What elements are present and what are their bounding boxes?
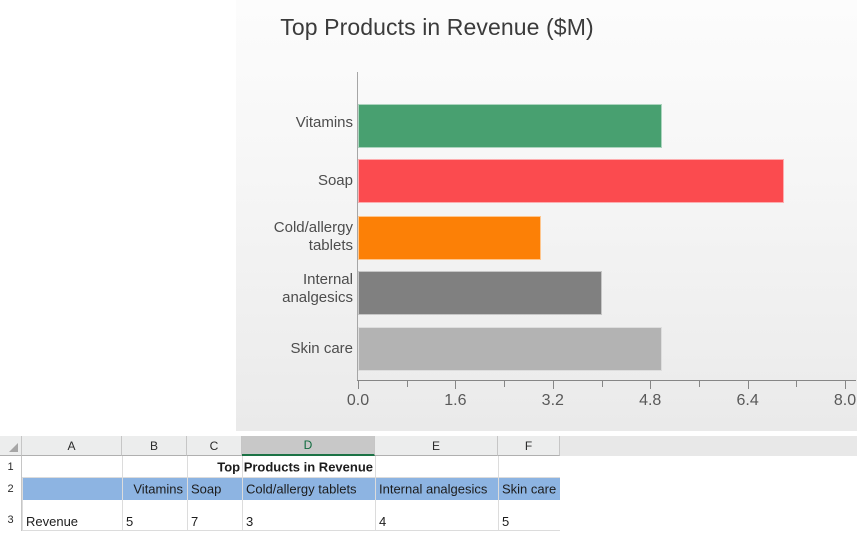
axis-tick-label: 0.0 [328, 392, 388, 410]
axis-tick-label: 4.8 [620, 392, 680, 410]
cell-divider [122, 500, 123, 531]
cell-divider [122, 478, 123, 500]
cell-divider [375, 500, 376, 531]
cell-B2[interactable]: Vitamins [122, 478, 187, 500]
cell-A2[interactable] [22, 478, 122, 500]
row-header-2[interactable]: 2 [0, 478, 22, 500]
category-label-skin-care: Skin care [236, 340, 353, 358]
cell-F2[interactable]: Skin care [498, 478, 560, 500]
cell-divider [22, 478, 23, 500]
value-axis-line [357, 72, 358, 380]
cell-A3[interactable]: Revenue [22, 500, 122, 531]
cell-A1[interactable] [22, 456, 122, 478]
select-all-button[interactable] [0, 436, 22, 456]
axis-tick-label: 6.4 [718, 392, 778, 410]
cell-text: Vitamins [133, 482, 183, 497]
bar-outline [358, 216, 541, 260]
cell-D1[interactable]: Top Products in Revenue [242, 456, 375, 478]
cell-C3[interactable]: 7 [187, 500, 242, 531]
cell-text: 5 [502, 514, 509, 529]
cell-F3[interactable]: 5 [498, 500, 560, 531]
chart-title: Top Products in Revenue ($M) [236, 14, 638, 41]
cell-E3[interactable]: 4 [375, 500, 498, 531]
axis-tick [553, 380, 554, 389]
cell-D2[interactable]: Cold/allergy tablets [242, 478, 375, 500]
axis-tick [358, 380, 359, 389]
cell-text: 7 [191, 514, 198, 529]
bar-outline [358, 271, 602, 315]
cell-divider [122, 456, 123, 478]
axis-tick-label: 8.0 [815, 392, 857, 410]
axis-tick [699, 380, 700, 387]
cell-text: 5 [126, 514, 133, 529]
axis-tick [748, 380, 749, 389]
cell-text: Skin care [502, 482, 556, 497]
axis-tick [504, 380, 505, 387]
cell-divider [498, 456, 499, 478]
axis-tick [602, 380, 603, 387]
cell-B3[interactable]: 5 [122, 500, 187, 531]
cell-F1[interactable] [498, 456, 560, 478]
cell-divider [187, 456, 188, 478]
cell-divider [242, 478, 243, 500]
spreadsheet[interactable]: ABCDEF 123 Top Products in RevenueVitami… [0, 431, 857, 531]
cell-text: Soap [191, 482, 221, 497]
cell-divider [375, 456, 376, 478]
cell-divider [375, 478, 376, 500]
axis-tick [407, 380, 408, 387]
category-axis-line [357, 380, 856, 381]
column-header-a[interactable]: A [22, 436, 122, 456]
select-all-triangle-icon [9, 443, 18, 452]
axis-tick-label: 3.2 [523, 392, 583, 410]
category-label-cold-allergy-tablets: Cold/allergytablets [236, 219, 353, 254]
column-header-c[interactable]: C [187, 436, 242, 456]
bar-skin-care[interactable] [358, 327, 662, 371]
axis-tick [650, 380, 651, 389]
cell-divider [22, 500, 23, 531]
bar-internal-analgesics[interactable] [358, 271, 602, 315]
column-header-f[interactable]: F [498, 436, 560, 456]
cell-divider [498, 500, 499, 531]
cell-divider [498, 478, 499, 500]
row-header-3[interactable]: 3 [0, 500, 22, 531]
column-header-d[interactable]: D [242, 436, 375, 456]
bar-outline [358, 159, 784, 203]
bar-soap[interactable] [358, 159, 784, 203]
axis-tick-label: 1.6 [425, 392, 485, 410]
cell-text: 4 [379, 514, 386, 529]
bar-outline [358, 327, 662, 371]
category-label-vitamins: Vitamins [236, 114, 353, 132]
chart-panel[interactable]: Top Products in Revenue ($M) Vitamins So… [236, 0, 857, 431]
cell-text: Top Products in Revenue [217, 460, 373, 475]
axis-tick [455, 380, 456, 389]
bar-vitamins[interactable] [358, 104, 662, 148]
cell-text: Revenue [26, 514, 78, 529]
column-header-e[interactable]: E [375, 436, 498, 456]
bar-outline [358, 104, 662, 148]
cell-divider [187, 478, 188, 500]
cell-B1[interactable] [122, 456, 187, 478]
cell-text: Internal analgesics [379, 482, 487, 497]
category-label-soap: Soap [236, 172, 353, 190]
axis-tick [845, 380, 846, 389]
cell-divider [187, 500, 188, 531]
column-header-b[interactable]: B [122, 436, 187, 456]
cell-E2[interactable]: Internal analgesics [375, 478, 498, 500]
bar-cold-allergy-tablets[interactable] [358, 216, 541, 260]
cell-D3[interactable]: 3 [242, 500, 375, 531]
row-header-1[interactable]: 1 [0, 456, 22, 478]
category-label-internal-analgesics: Internalanalgesics [236, 271, 353, 306]
cell-E1[interactable] [375, 456, 498, 478]
axis-tick [796, 380, 797, 387]
cell-divider [242, 500, 243, 531]
cell-text: 3 [246, 514, 253, 529]
cell-C2[interactable]: Soap [187, 478, 242, 500]
cell-text: Cold/allergy tablets [246, 482, 357, 497]
